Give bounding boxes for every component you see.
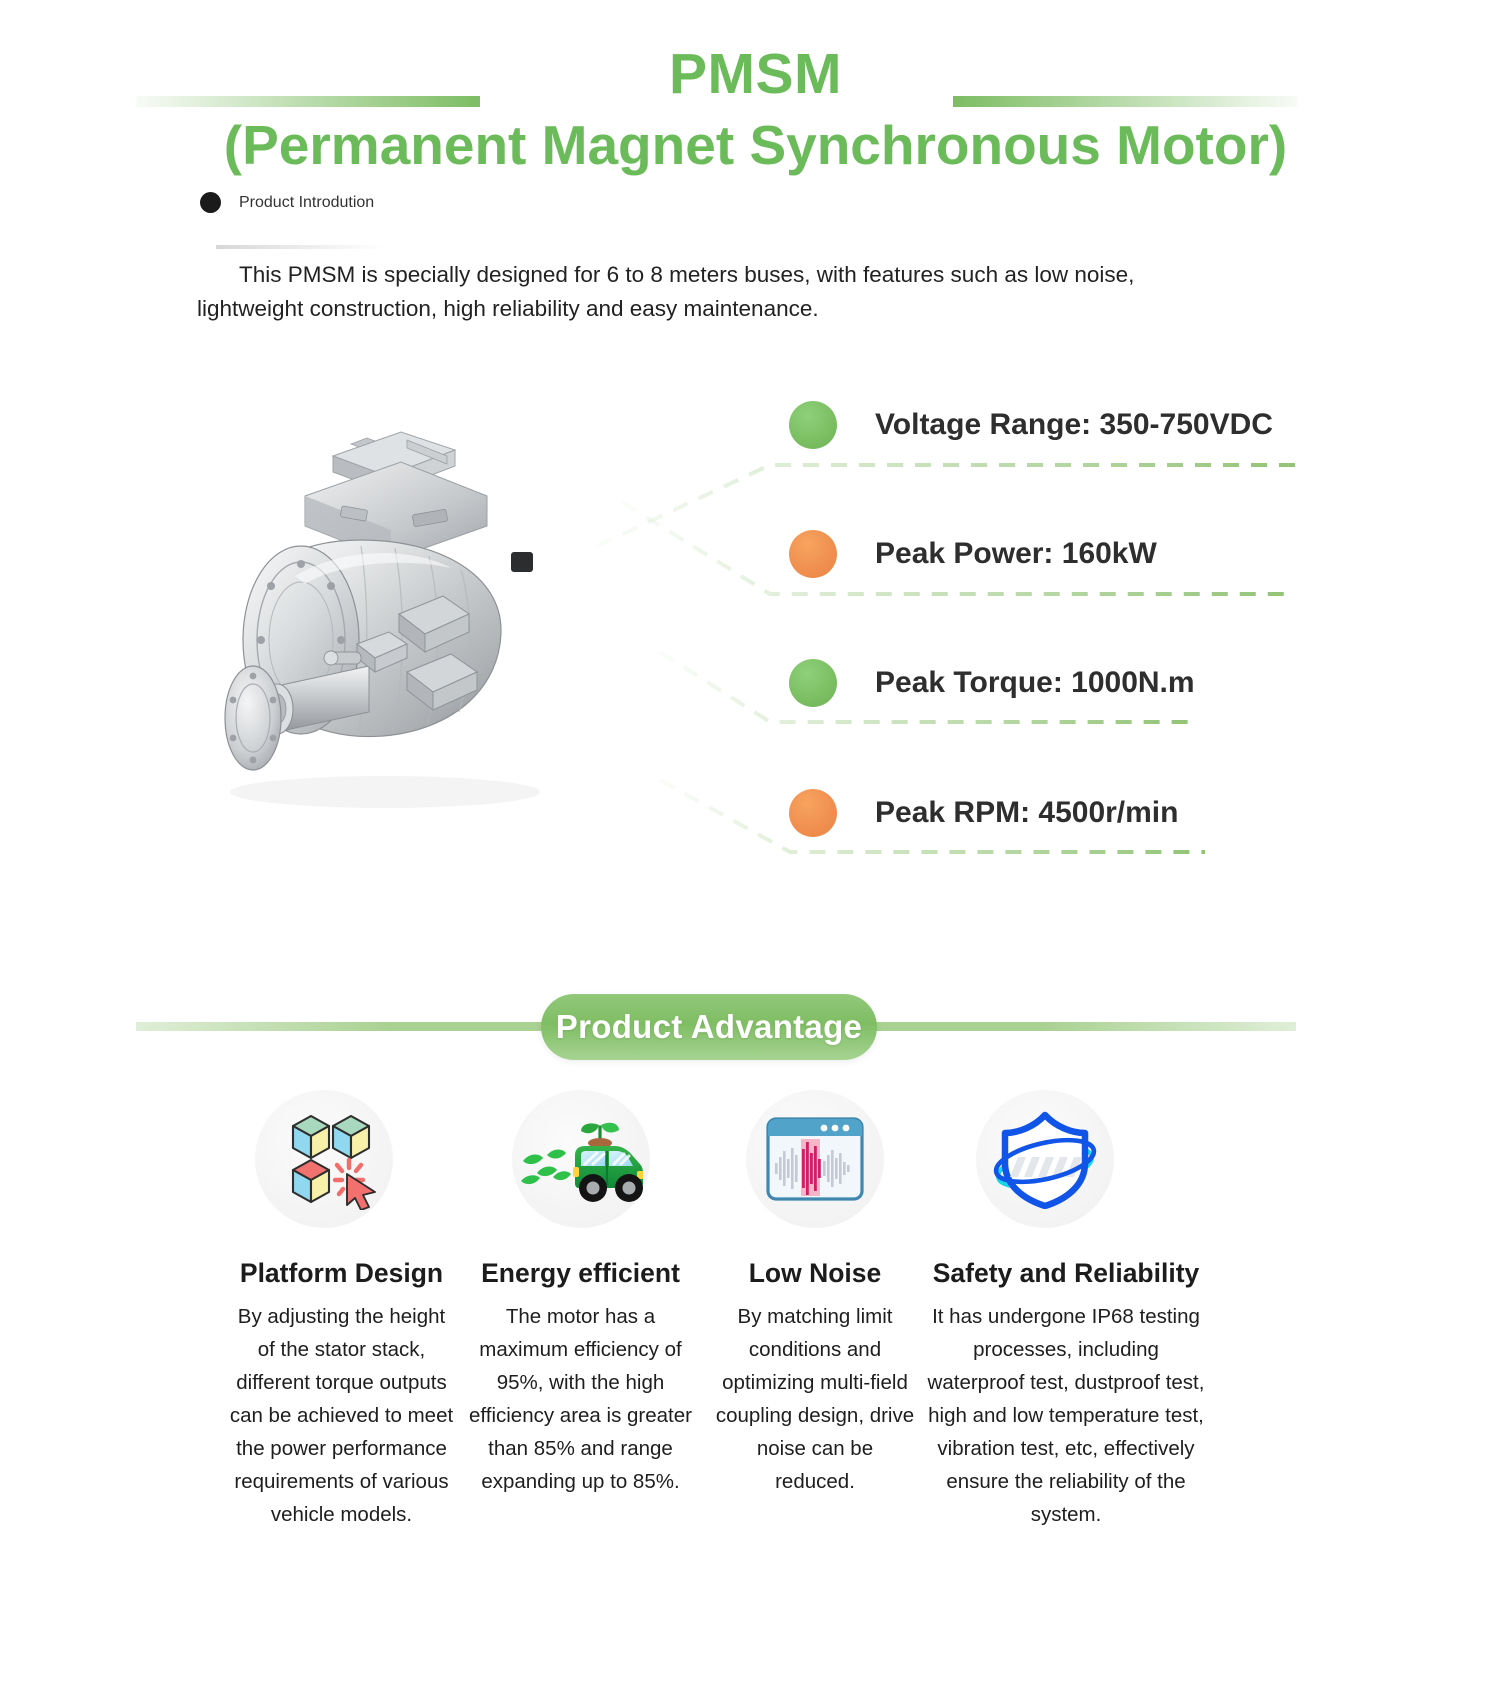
advantage-card-list: Platform Design By adjusting the height …	[0, 1090, 1511, 1610]
spec-bullet-icon	[789, 659, 837, 707]
page-subtitle: (Permanent Magnet Synchronous Motor)	[0, 118, 1511, 173]
product-introduction-heading-label: Product Introdution	[239, 194, 374, 212]
spec-bullet-icon	[789, 789, 837, 837]
heading-underline	[216, 245, 384, 249]
advantage-title: Energy efficient	[468, 1258, 693, 1289]
advantage-card-energy-efficient: Energy efficient The motor has a maximum…	[468, 1090, 693, 1498]
spec-bullet-icon	[789, 401, 837, 449]
spec-item-peak-rpm: Peak RPM: 4500r/min	[789, 789, 1178, 837]
page-title: PMSM	[0, 46, 1511, 103]
spec-label: Peak RPM: 4500r/min	[875, 796, 1178, 830]
spec-item-peak-power: Peak Power: 160kW	[789, 530, 1157, 578]
spec-item-peak-torque: Peak Torque: 1000N.m	[789, 659, 1195, 707]
product-introduction-body: This PMSM is specially designed for 6 to…	[197, 258, 1157, 326]
advantage-description: The motor has a maximum efficiency of 95…	[468, 1300, 693, 1498]
advantage-banner-label: Product Advantage	[556, 1008, 862, 1046]
filled-circle-bullet-icon	[200, 192, 221, 213]
advantage-description: By adjusting the height of the stator st…	[229, 1300, 454, 1531]
advantage-card-platform-design: Platform Design By adjusting the height …	[229, 1090, 454, 1531]
spec-label: Peak Torque: 1000N.m	[875, 666, 1195, 700]
audio-waveform-window-icon	[746, 1090, 884, 1228]
shield-orbit-icon	[976, 1090, 1114, 1228]
advantage-title: Platform Design	[229, 1258, 454, 1289]
advantage-title: Low Noise	[715, 1258, 915, 1289]
advantage-card-safety-reliability: Safety and Reliability It has undergone …	[926, 1090, 1206, 1531]
advantage-description: It has undergone IP68 testing processes,…	[926, 1300, 1206, 1531]
spec-leader-lines	[0, 370, 1511, 890]
advantage-title: Safety and Reliability	[926, 1258, 1206, 1289]
advantage-description: By matching limit conditions and optimiz…	[715, 1300, 915, 1498]
spec-label: Voltage Range: 350-750VDC	[875, 408, 1273, 442]
eco-car-leaves-icon	[512, 1090, 650, 1228]
product-introduction-heading: Product Introdution	[200, 192, 374, 213]
page-header: PMSM (Permanent Magnet Synchronous Motor…	[0, 0, 1511, 190]
spec-bullet-icon	[789, 530, 837, 578]
advantage-card-low-noise: Low Noise By matching limit conditions a…	[715, 1090, 915, 1498]
isometric-cubes-cursor-icon	[255, 1090, 393, 1228]
spec-item-voltage-range: Voltage Range: 350-750VDC	[789, 401, 1273, 449]
spec-label: Peak Power: 160kW	[875, 537, 1157, 571]
advantage-banner: Product Advantage	[541, 994, 877, 1060]
